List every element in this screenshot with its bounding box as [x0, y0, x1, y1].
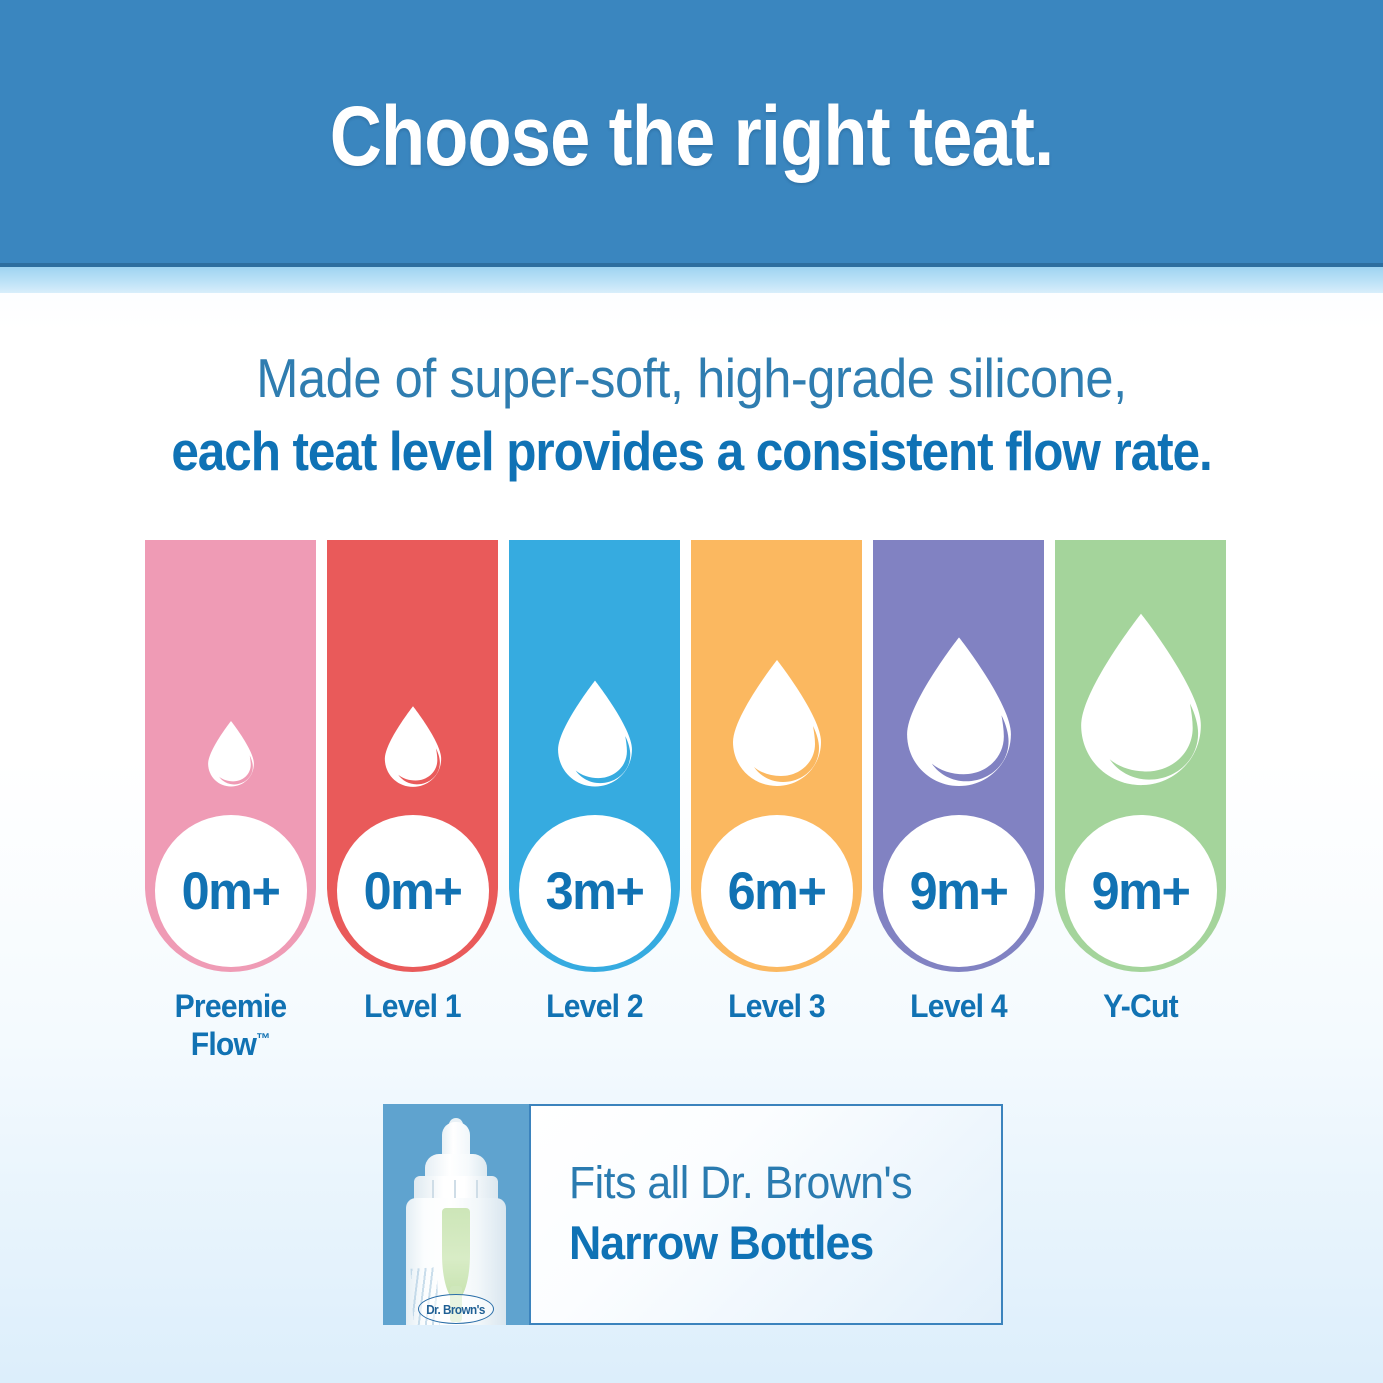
subtitle-block: Made of super-soft, high-grade silicone,… [0, 348, 1383, 484]
age-badge-label: 6m+ [728, 861, 826, 922]
age-badge: 0m+ [155, 815, 307, 967]
infographic-page: Choose the right teat. Made of super-sof… [0, 0, 1383, 1383]
teat-label-line-1: Level 1 [332, 988, 493, 1026]
teat-label-line-1: Level 4 [878, 988, 1039, 1026]
dr-browns-logo: Dr. Brown's [418, 1294, 494, 1324]
fits-text-box: Fits all Dr. Brown's Narrow Bottles [529, 1104, 1003, 1325]
teat-bar-2[interactable]: 0m+ [327, 540, 498, 972]
subtitle-line-2: each teat level provides a consistent fl… [69, 418, 1314, 484]
age-badge-label: 9m+ [1092, 861, 1190, 922]
age-badge: 9m+ [1065, 815, 1217, 967]
fits-line-2: Narrow Bottles [569, 1215, 979, 1271]
water-drop-icon [1073, 611, 1209, 793]
teat-label-3: Level 2 [514, 988, 675, 1064]
water-drop-icon [727, 658, 827, 793]
teat-level-bars: 0m+0m+3m+6m+9m+9m+ [145, 540, 1252, 972]
teat-label-line-1: Level 2 [514, 988, 675, 1026]
baby-bottle-illustration: Dr. Brown's [398, 1118, 514, 1325]
bottle-image-box: Dr. Brown's [383, 1104, 529, 1325]
teat-label-line-2-text: Flow [191, 1026, 257, 1062]
teat-label-6: Y-Cut [1060, 988, 1221, 1064]
teat-label-4: Level 3 [696, 988, 857, 1064]
teat-label-line-1: Preemie [150, 988, 311, 1026]
teat-bar-3[interactable]: 3m+ [509, 540, 680, 972]
trademark-symbol: ™ [256, 1030, 270, 1047]
water-drop-icon [205, 720, 257, 793]
age-badge: 6m+ [701, 815, 853, 967]
page-title: Choose the right teat. [97, 88, 1286, 185]
age-badge-label: 0m+ [182, 861, 280, 922]
teat-label-line-2: Flow™ [150, 1026, 311, 1064]
fits-line-1: Fits all Dr. Brown's [569, 1157, 979, 1209]
age-badge: 9m+ [883, 815, 1035, 967]
header-glow-band [0, 267, 1383, 293]
teat-bar-6[interactable]: 9m+ [1055, 540, 1226, 972]
teat-label-1: PreemieFlow™ [150, 988, 311, 1064]
fits-narrow-bottles-panel: Dr. Brown's Fits all Dr. Brown's Narrow … [383, 1104, 1003, 1325]
teat-label-line-1: Level 3 [696, 988, 857, 1026]
teat-bar-4[interactable]: 6m+ [691, 540, 862, 972]
age-badge-label: 0m+ [364, 861, 462, 922]
teat-label-line-1: Y-Cut [1060, 988, 1221, 1026]
age-badge-label: 9m+ [910, 861, 1008, 922]
age-badge-label: 3m+ [546, 861, 644, 922]
teat-bar-1[interactable]: 0m+ [145, 540, 316, 972]
teat-label-2: Level 1 [332, 988, 493, 1064]
age-badge: 3m+ [519, 815, 671, 967]
subtitle-line-1: Made of super-soft, high-grade silicone, [55, 348, 1327, 410]
teat-bar-5[interactable]: 9m+ [873, 540, 1044, 972]
teat-level-labels: PreemieFlow™Level 1Level 2Level 3Level 4… [145, 988, 1252, 1064]
teat-label-5: Level 4 [878, 988, 1039, 1064]
water-drop-icon [381, 705, 445, 793]
water-drop-icon [900, 635, 1018, 793]
dr-browns-logo-text: Dr. Brown's [427, 1302, 486, 1317]
age-badge: 0m+ [337, 815, 489, 967]
water-drop-icon [553, 679, 637, 793]
